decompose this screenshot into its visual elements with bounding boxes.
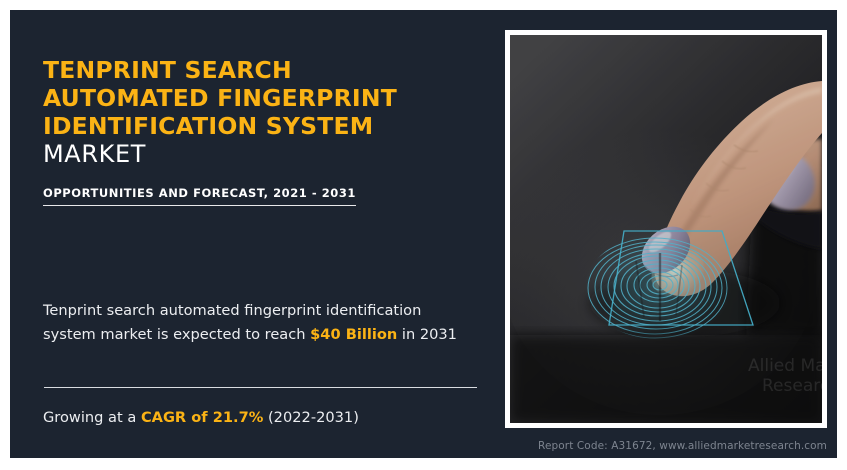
cagr-suffix: (2022-2031) <box>263 409 359 426</box>
report-code-footer: Report Code: A31672, www.alliedmarketres… <box>538 440 827 452</box>
svg-text:Research: Research <box>762 376 822 396</box>
title-line-2: AUTOMATED FINGERPRINT <box>43 84 483 112</box>
left-text-column: TENPRINT SEARCH AUTOMATED FINGERPRINT ID… <box>43 10 493 458</box>
cagr-prefix: Growing at a <box>43 409 141 426</box>
title-line-4: MARKET <box>43 140 483 168</box>
dark-panel: TENPRINT SEARCH AUTOMATED FINGERPRINT ID… <box>10 10 837 458</box>
page-title: TENPRINT SEARCH AUTOMATED FINGERPRINT ID… <box>43 56 483 168</box>
title-line-3: IDENTIFICATION SYSTEM <box>43 112 483 140</box>
cagr-highlight-value: CAGR of 21.7% <box>141 409 263 426</box>
svg-text:Allied Market: Allied Market <box>748 356 822 376</box>
market-value-text: Tenprint search automated fingerprint id… <box>43 299 475 348</box>
fingerprint-scan-photo: Allied Market Research <box>510 35 822 423</box>
cagr-statement: Growing at a CAGR of 21.7% (2022-2031) <box>43 408 359 428</box>
cagr-text: Growing at a CAGR of 21.7% (2022-2031) <box>43 408 359 428</box>
market-value-statement: Tenprint search automated fingerprint id… <box>43 299 475 348</box>
title-line-1: TENPRINT SEARCH <box>43 56 483 84</box>
infographic-card: TENPRINT SEARCH AUTOMATED FINGERPRINT ID… <box>0 0 847 470</box>
stat-highlight-value: $40 Billion <box>310 326 397 343</box>
subtitle-wrapper: OPPORTUNITIES AND FORECAST, 2021 - 2031 <box>43 182 356 206</box>
stat-suffix: in 2031 <box>397 326 457 343</box>
photo-frame: Allied Market Research <box>505 30 827 428</box>
subtitle-text: OPPORTUNITIES AND FORECAST, 2021 - 2031 <box>43 186 356 206</box>
section-divider <box>44 387 477 388</box>
fingerprint-scan-illustration: Allied Market Research <box>510 35 822 423</box>
